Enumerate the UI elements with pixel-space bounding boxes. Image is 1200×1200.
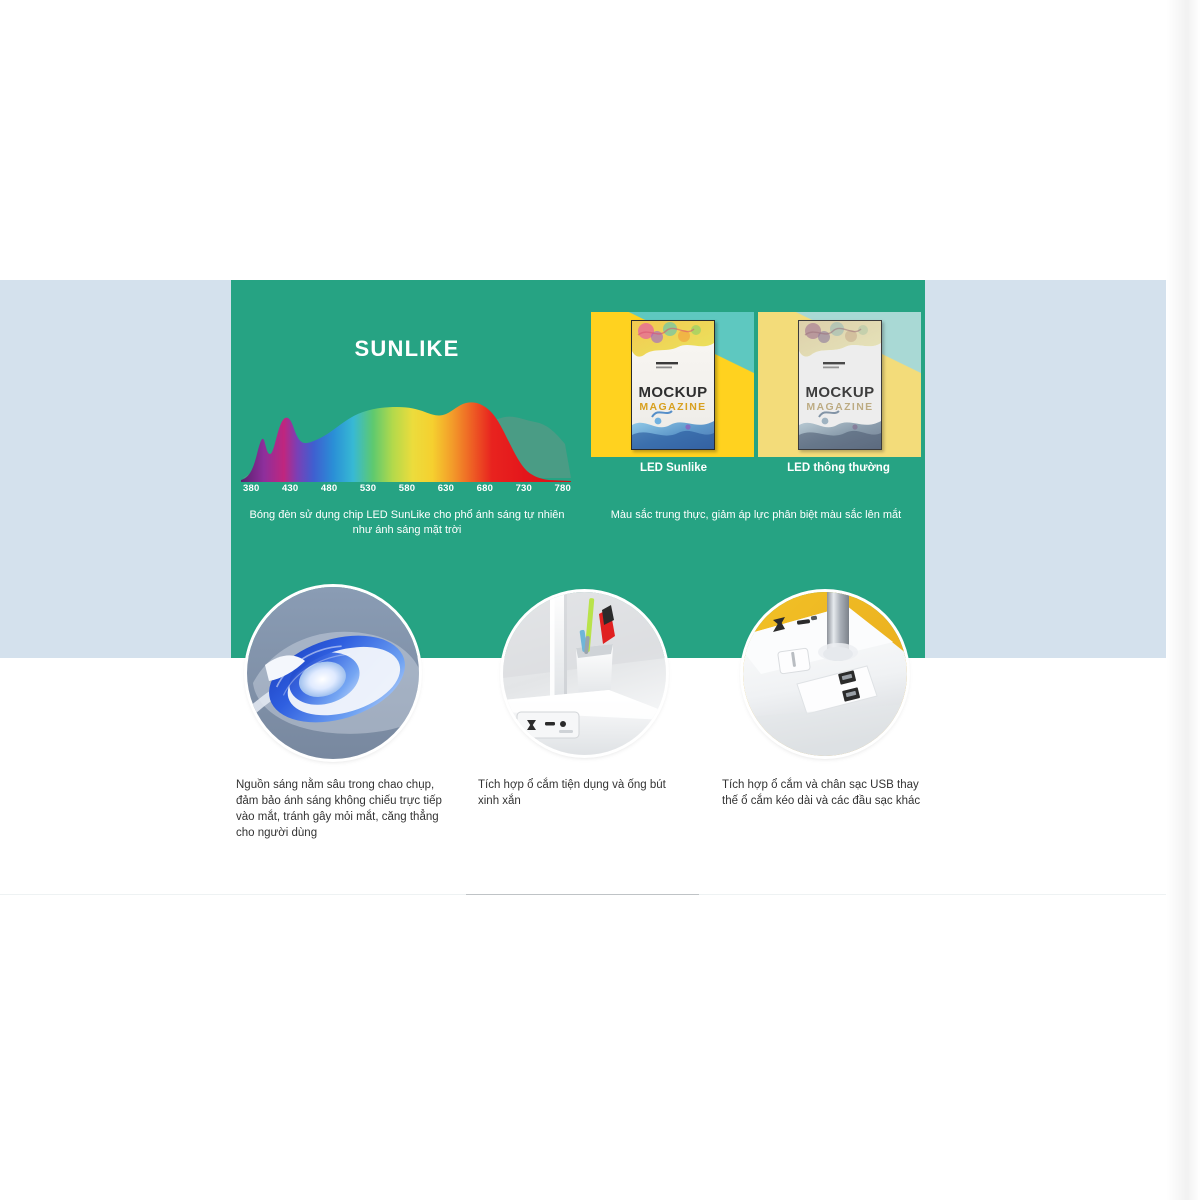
feature-caption-usb-socket: Tích hợp ổ cắm và chân sạc USB thay thế … — [722, 777, 934, 809]
spectrum-chart — [239, 392, 575, 484]
label-led-sunlike: LED Sunlike — [591, 462, 756, 474]
magazine-cover-vivid: MOCKUP MAGAZINE — [631, 320, 715, 450]
page-edge-shadow — [1166, 0, 1200, 1200]
product-detail-page: SUNLIKE — [0, 0, 1200, 1200]
feature-caption-lamp-shade: Nguồn sáng nằm sâu trong chao chụp, đảm … — [236, 777, 442, 841]
magazine-photo-sunlike: MOCKUP MAGAZINE — [591, 312, 754, 457]
feature-photo-lamp-shade — [247, 587, 419, 759]
comparison-labels: LED Sunlike LED thông thường — [591, 462, 921, 474]
section-divider-accent — [466, 894, 699, 895]
spectrum-axis-ticks: 380 430 480 530 580 630 680 730 780 — [243, 483, 571, 494]
axis-tick: 530 — [360, 483, 376, 494]
magazine-comparison-images: MOCKUP MAGAZINE — [591, 312, 921, 457]
axis-tick: 780 — [555, 483, 571, 494]
spectrum-title: SUNLIKE — [231, 336, 583, 362]
svg-text:MOCKUP: MOCKUP — [638, 384, 707, 401]
feature-photo-usb-socket — [743, 592, 907, 756]
svg-text:MAGAZINE: MAGAZINE — [806, 401, 873, 413]
feature-caption-pen-holder: Tích hợp ổ cắm tiện dụng và ống bút xinh… — [478, 777, 684, 809]
label-led-standard: LED thông thường — [756, 462, 921, 474]
axis-tick: 730 — [516, 483, 532, 494]
feature-photo-pen-holder — [503, 592, 666, 755]
magazine-cover-dull: MOCKUP MAGAZINE — [798, 320, 882, 450]
axis-tick: 580 — [399, 483, 415, 494]
axis-tick: 480 — [321, 483, 337, 494]
svg-text:MOCKUP: MOCKUP — [805, 384, 874, 401]
magazine-photo-standard: MOCKUP MAGAZINE — [758, 312, 921, 457]
color-comparison-section: MOCKUP MAGAZINE — [587, 280, 925, 658]
svg-text:MAGAZINE: MAGAZINE — [639, 401, 706, 413]
comparison-caption: Màu sắc trung thực, giảm áp lực phân biệ… — [593, 508, 919, 523]
axis-tick: 430 — [282, 483, 298, 494]
axis-tick: 380 — [243, 483, 259, 494]
axis-tick: 630 — [438, 483, 454, 494]
spectrum-caption: Bóng đèn sử dụng chip LED SunLike cho ph… — [245, 508, 569, 538]
axis-tick: 680 — [477, 483, 493, 494]
